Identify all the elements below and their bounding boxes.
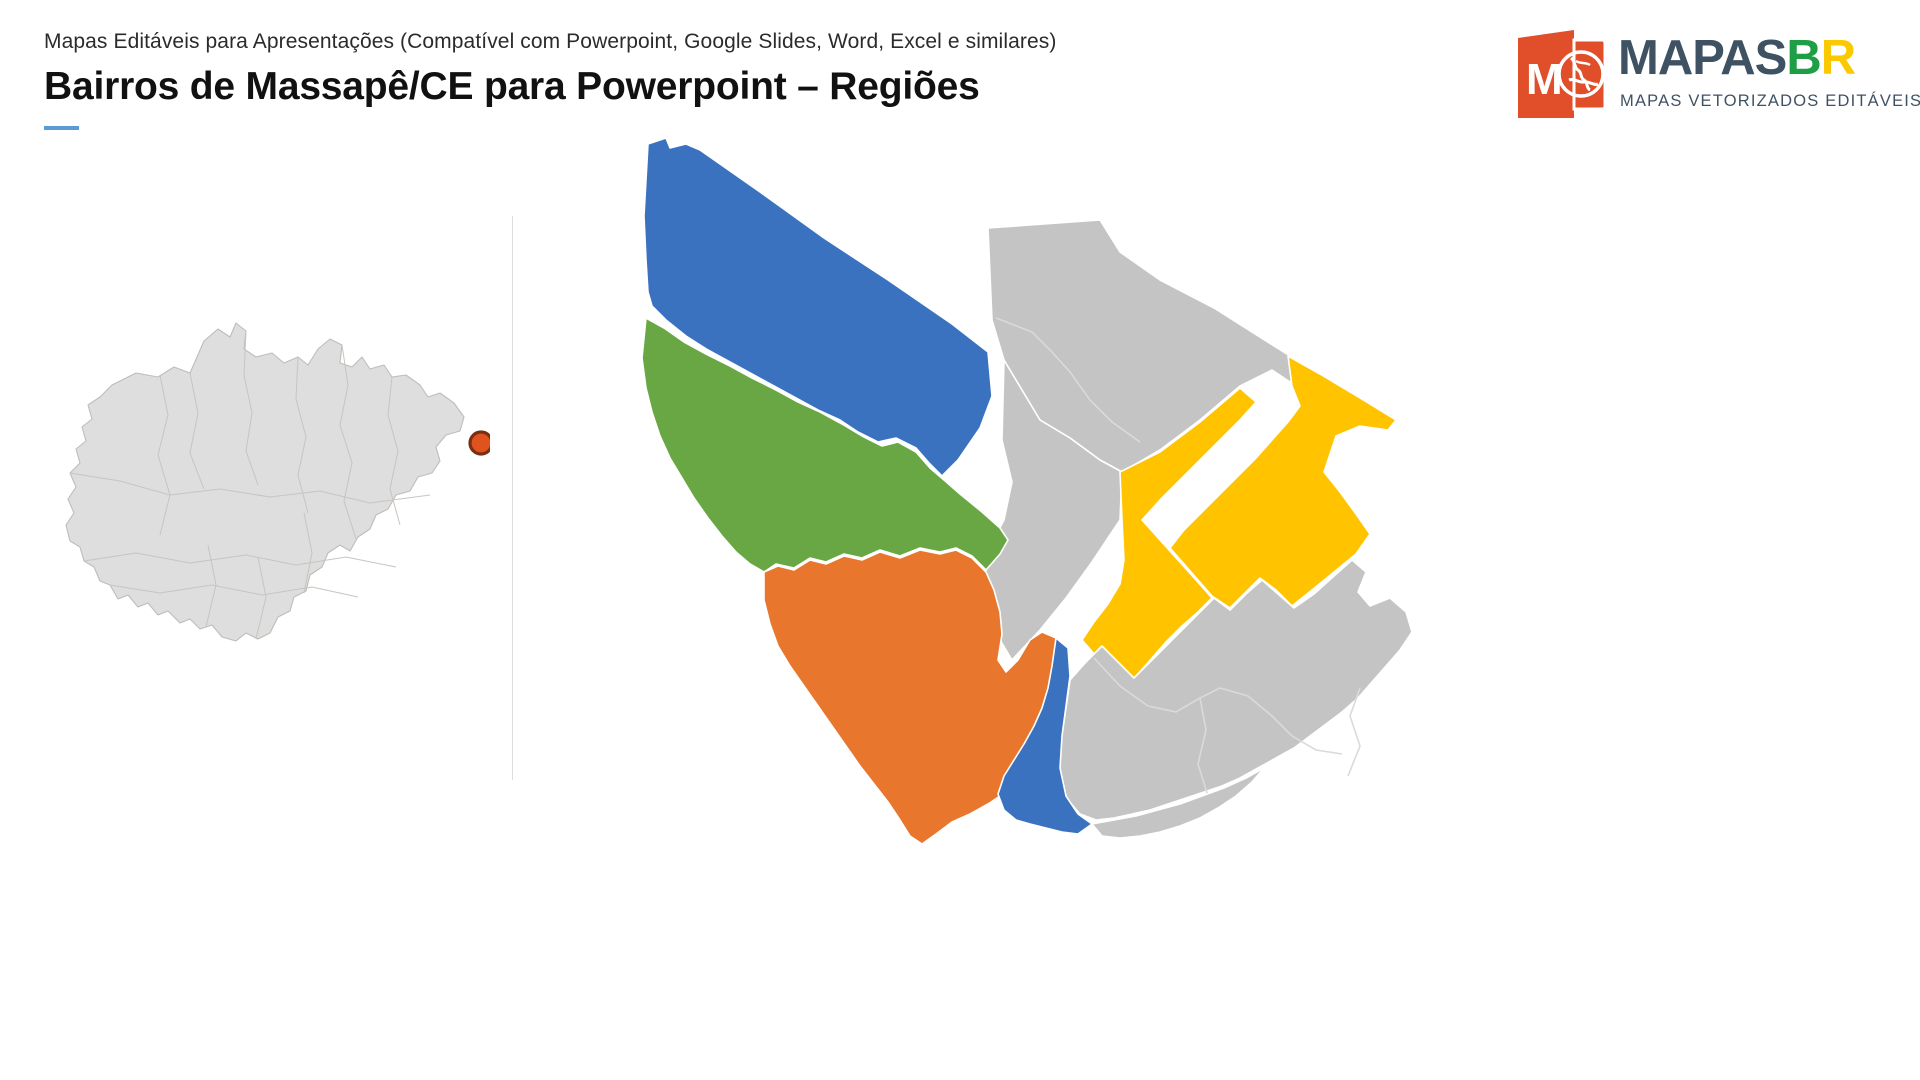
logo-word-mapas: MAPAS xyxy=(1618,31,1786,85)
page-title: Bairros de Massapê/CE para Powerpoint – … xyxy=(44,65,980,109)
title-accent-underline xyxy=(44,126,79,130)
logo-wordmark: MAPASBR xyxy=(1618,34,1855,83)
logo-tagline: MAPAS VETORIZADOS EDITÁVEIS xyxy=(1620,92,1920,111)
logo-word-b: B xyxy=(1786,31,1820,85)
header-subtitle: Mapas Editáveis para Apresentações (Comp… xyxy=(44,30,1056,54)
powerpoint-globe-icon: M xyxy=(1514,28,1606,120)
brazil-locator-map xyxy=(40,245,490,695)
svg-text:M: M xyxy=(1526,55,1563,104)
mapasbr-logo[interactable]: M MAPASBR MAPAS VETORIZADOS EDITÁVEIS xyxy=(1514,28,1892,120)
panel-divider xyxy=(512,216,513,780)
massape-regions-map[interactable] xyxy=(600,120,1430,860)
location-marker xyxy=(470,432,490,454)
logo-word-r: R xyxy=(1821,31,1855,85)
